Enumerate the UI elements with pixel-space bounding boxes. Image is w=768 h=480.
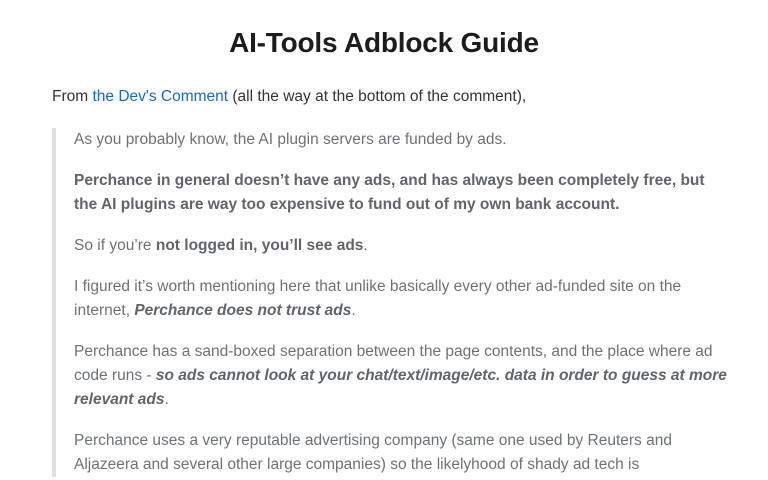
quote-paragraph: I figured it’s worth mentioning here tha… <box>56 275 728 323</box>
quote-text-run: Perchance in general doesn’t have any ad… <box>74 172 705 213</box>
quote-text-run: . <box>363 237 367 254</box>
quote-text-run: Perchance uses a very reputable advertis… <box>74 432 672 473</box>
intro-paragraph: From the Dev's Comment (all the way at t… <box>0 86 768 108</box>
page-title: AI-Tools Adblock Guide <box>0 0 768 60</box>
dev-comment-link[interactable]: the Dev's Comment <box>92 88 228 105</box>
quote-bold-run: not logged in, you’ll see ads <box>156 237 364 254</box>
intro-text-after-link: (all the way at the bottom of the commen… <box>228 88 526 105</box>
document-page: AI-Tools Adblock Guide From the Dev's Co… <box>0 0 768 480</box>
quote-paragraph: So if you’re not logged in, you’ll see a… <box>56 234 728 258</box>
blockquote: As you probably know, the AI plugin serv… <box>52 128 728 477</box>
quote-text-run: . <box>351 302 355 319</box>
quote-text-run: As you probably know, the AI plugin serv… <box>74 131 507 148</box>
quote-paragraph: Perchance in general doesn’t have any ad… <box>56 169 728 217</box>
quote-paragraph: Perchance has a sand-boxed separation be… <box>56 340 728 412</box>
quote-paragraph: As you probably know, the AI plugin serv… <box>56 128 728 152</box>
quote-paragraph: Perchance uses a very reputable advertis… <box>56 429 728 477</box>
quote-bold-italic-run: so ads cannot look at your chat/text/ima… <box>74 367 727 408</box>
quote-bold-italic-run: Perchance does not trust ads <box>134 302 351 319</box>
intro-text-before-link: From <box>52 88 92 105</box>
quote-text-run: . <box>164 391 168 408</box>
quote-text-run: So if you’re <box>74 237 156 254</box>
